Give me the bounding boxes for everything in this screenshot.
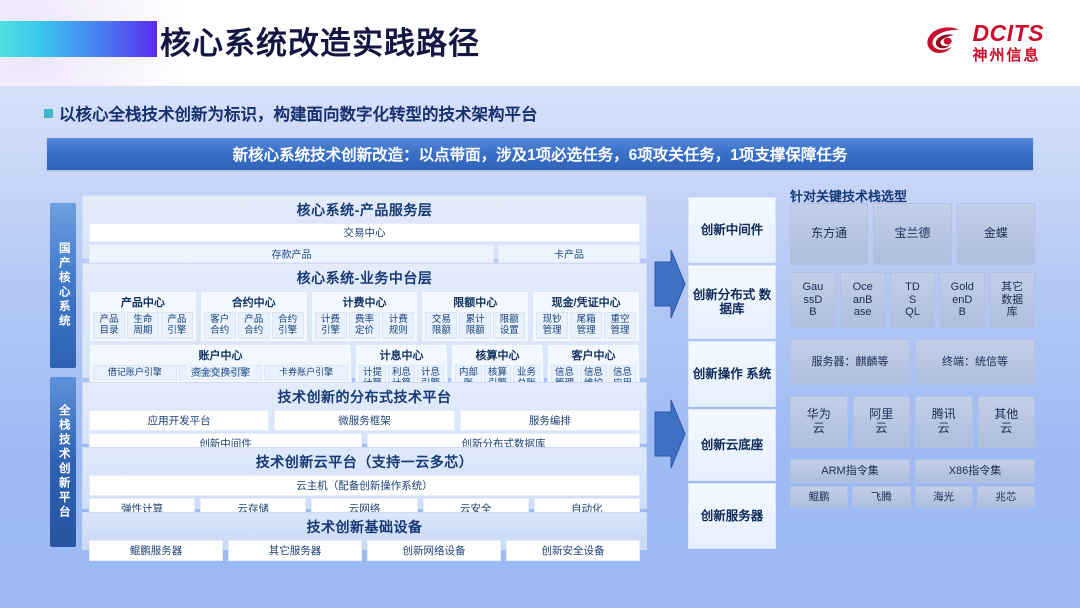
center-chip[interactable]: 限额 设置 <box>493 312 525 339</box>
innovation-track-column: 创新中间件 创新分布式 数据库 创新操作 系统 创新云底座 创新服务器 <box>688 197 776 551</box>
logo-wordmark: DCITS 神州信息 <box>973 22 1045 63</box>
account-engine-chip[interactable]: 卡券账户引擎 <box>264 365 348 380</box>
account-engine-chip[interactable]: 借记账户引擎 <box>93 365 177 380</box>
layer-title: 技术创新的分布式技术平台 <box>89 385 640 410</box>
center-title: 合约中心 <box>204 293 304 312</box>
vendor-item[interactable]: 宝兰德 <box>873 203 951 265</box>
bullet-square-icon <box>44 109 53 118</box>
center-title: 客户中心 <box>551 346 636 365</box>
banner-text: 新核心系统技术创新改造：以点带面，涉及1项必选任务，6项攻关任务，1项支撑保障任… <box>233 143 848 165</box>
group-title: 存款产品 <box>93 246 490 262</box>
center-title: 现金/凭证中心 <box>536 293 636 312</box>
vendor-item[interactable]: ARM指令集 <box>790 459 910 483</box>
center-limit: 限额中心 交易 限额 累计 限额 限额 设置 <box>421 291 529 342</box>
vendor-item[interactable]: Oce anB ase <box>840 272 886 328</box>
track-server[interactable]: 创新服务器 <box>688 483 776 549</box>
layer-title: 核心系统-产品服务层 <box>89 198 640 223</box>
dcits-swoosh-icon <box>924 21 966 63</box>
center-chip[interactable]: 交易 限额 <box>425 312 457 339</box>
vendor-item[interactable]: 海光 <box>915 486 973 508</box>
vendor-group-cloud: 华为 云 阿里 云 腾讯 云 其他 云 <box>790 396 1035 448</box>
center-title: 限额中心 <box>425 293 525 312</box>
vendor-item[interactable]: 飞腾 <box>852 486 910 508</box>
logo-text-cn: 神州信息 <box>973 48 1045 63</box>
infra-item[interactable]: 创新安全设备 <box>506 540 640 561</box>
vendor-group-database: Gau ssD B Oce anB ase TD S QL Gold enD B… <box>790 272 1035 328</box>
center-title: 核算中心 <box>455 346 540 365</box>
tech-stack-vendors: 东方通 宝兰德 金蝶 Gau ssD B Oce anB ase TD S QL… <box>790 203 1035 510</box>
vendor-item[interactable]: 其它 数据 库 <box>989 272 1035 328</box>
track-cloud-base[interactable]: 创新云底座 <box>688 409 776 481</box>
task-summary-banner: 新核心系统技术创新改造：以点带面，涉及1项必选任务，6项攻关任务，1项支撑保障任… <box>47 138 1033 170</box>
vendor-item[interactable]: 金蝶 <box>957 203 1035 265</box>
infra-item[interactable]: 其它服务器 <box>228 540 362 561</box>
subtitle: 以核心全栈技术创新为标识，构建面向数字化转型的技术架构平台 <box>44 101 538 125</box>
center-product: 产品中心 产品 目录 生命 周期 产品 引擎 <box>89 291 197 342</box>
center-chip[interactable]: 生命 周期 <box>127 312 159 339</box>
center-chip[interactable]: 计费 引擎 <box>315 312 347 339</box>
center-chip[interactable]: 产品 合约 <box>238 312 270 339</box>
title-accent-bar <box>0 21 157 57</box>
center-chip[interactable]: 现钞 管理 <box>536 312 568 339</box>
vendor-group-chips: 鲲鹏 飞腾 海光 兆芯 <box>790 486 1035 508</box>
cloud-host[interactable]: 云主机（配备创新操作系统） <box>89 475 640 496</box>
dist-item[interactable]: 应用开发平台 <box>89 410 269 431</box>
infra-item[interactable]: 创新网络设备 <box>367 540 501 561</box>
center-chip[interactable]: 费率 定价 <box>349 312 381 339</box>
transaction-center-bar: 交易中心 <box>89 223 640 242</box>
group-title: 卡产品 <box>502 246 636 262</box>
dcits-logo: DCITS 神州信息 <box>924 18 1045 66</box>
vendor-item[interactable]: 华为 云 <box>790 396 848 448</box>
dist-item[interactable]: 服务编排 <box>460 410 640 431</box>
vendor-item[interactable]: 其他 云 <box>978 396 1036 448</box>
sidebar-label-core-system: 国产核心系统 <box>50 203 76 368</box>
layer-infrastructure: 技术创新基础设备 鲲鹏服务器 其它服务器 创新网络设备 创新安全设备 <box>82 512 647 550</box>
page-title: 核心系统改造实践路径 <box>160 18 480 63</box>
arrow-right-icon-2 <box>653 398 687 470</box>
vendor-item[interactable]: 服务器：麒麟等 <box>790 339 910 385</box>
vendor-group-os: 服务器：麒麟等 终端：统信等 <box>790 339 1035 385</box>
business-center-row-1: 产品中心 产品 目录 生命 周期 产品 引擎 合约中心 客户 合约 产品 合约 … <box>89 291 640 342</box>
track-middleware[interactable]: 创新中间件 <box>688 197 776 263</box>
infra-item[interactable]: 鲲鹏服务器 <box>89 540 223 561</box>
layer-title: 技术创新云平台（支持一云多芯） <box>89 450 640 475</box>
center-contract: 合约中心 客户 合约 产品 合约 合约 引擎 <box>200 291 308 342</box>
architecture-stack: 核心系统-产品服务层 交易中心 存款产品 个人活期 个人定期 对公存款 其他业务… <box>82 195 647 550</box>
vendor-item[interactable]: 兆芯 <box>977 486 1035 508</box>
dist-item[interactable]: 微服务框架 <box>274 410 454 431</box>
track-distributed-database[interactable]: 创新分布式 数据库 <box>688 265 776 339</box>
vendor-item[interactable]: 鲲鹏 <box>790 486 848 508</box>
center-title: 账户中心 <box>93 346 348 365</box>
center-billing: 计费中心 计费 引擎 费率 定价 计费 规则 <box>311 291 419 342</box>
layer-product-service: 核心系统-产品服务层 交易中心 存款产品 个人活期 个人定期 对公存款 其他业务… <box>82 195 647 259</box>
layer-title: 核心系统-业务中台层 <box>89 266 640 291</box>
vendor-item[interactable]: 腾讯 云 <box>915 396 973 448</box>
layer-cloud-platform: 技术创新云平台（支持一云多芯） 云主机（配备创新操作系统） 弹性计算 云存储 云… <box>82 447 647 509</box>
center-cash-voucher: 现金/凭证中心 现钞 管理 尾箱 管理 重空 管理 <box>532 291 640 342</box>
vendor-item[interactable]: Gau ssD B <box>790 272 836 328</box>
subtitle-text: 以核心全栈技术创新为标识，构建面向数字化转型的技术架构平台 <box>59 101 538 125</box>
vendor-item[interactable]: Gold enD B <box>939 272 985 328</box>
vendor-item[interactable]: X86指令集 <box>915 459 1035 483</box>
track-operating-system[interactable]: 创新操作 系统 <box>688 341 776 407</box>
center-chip[interactable]: 合约 引擎 <box>272 312 304 339</box>
vendor-item[interactable]: 阿里 云 <box>853 396 911 448</box>
logo-text-en: DCITS <box>973 22 1045 45</box>
layer-title: 技术创新基础设备 <box>89 515 640 540</box>
layer-distributed-platform: 技术创新的分布式技术平台 应用开发平台 微服务框架 服务编排 创新中间件 创新分… <box>82 382 647 444</box>
center-chip[interactable]: 计费 规则 <box>382 312 414 339</box>
sidebar-label-fullstack-platform: 全栈技术创新平台 <box>50 377 76 547</box>
center-title: 产品中心 <box>93 293 193 312</box>
center-chip[interactable]: 产品 引擎 <box>161 312 193 339</box>
vendor-group-middleware: 东方通 宝兰德 金蝶 <box>790 203 1035 265</box>
vendor-item[interactable]: 东方通 <box>790 203 868 265</box>
center-chip[interactable]: 产品 目录 <box>93 312 125 339</box>
center-title: 计费中心 <box>315 293 415 312</box>
vendor-item[interactable]: TD S QL <box>890 272 936 328</box>
layer-business-middle: 核心系统-业务中台层 产品中心 产品 目录 生命 周期 产品 引擎 合约中心 客… <box>82 263 647 378</box>
center-chip[interactable]: 重空 管理 <box>604 312 636 339</box>
vendor-group-instruction-set: ARM指令集 X86指令集 <box>790 459 1035 483</box>
center-chip[interactable]: 客户 合约 <box>204 312 236 339</box>
fund-exchange-engine-label: 资金交换引擎 <box>187 364 255 379</box>
vendor-item[interactable]: 终端：统信等 <box>915 339 1035 385</box>
center-title: 计息中心 <box>359 346 444 365</box>
center-chip[interactable]: 尾箱 管理 <box>570 312 602 339</box>
page-header: 核心系统改造实践路径 DCITS 神州信息 <box>0 0 1080 86</box>
center-chip[interactable]: 累计 限额 <box>459 312 491 339</box>
arrow-right-icon-1 <box>653 248 687 320</box>
